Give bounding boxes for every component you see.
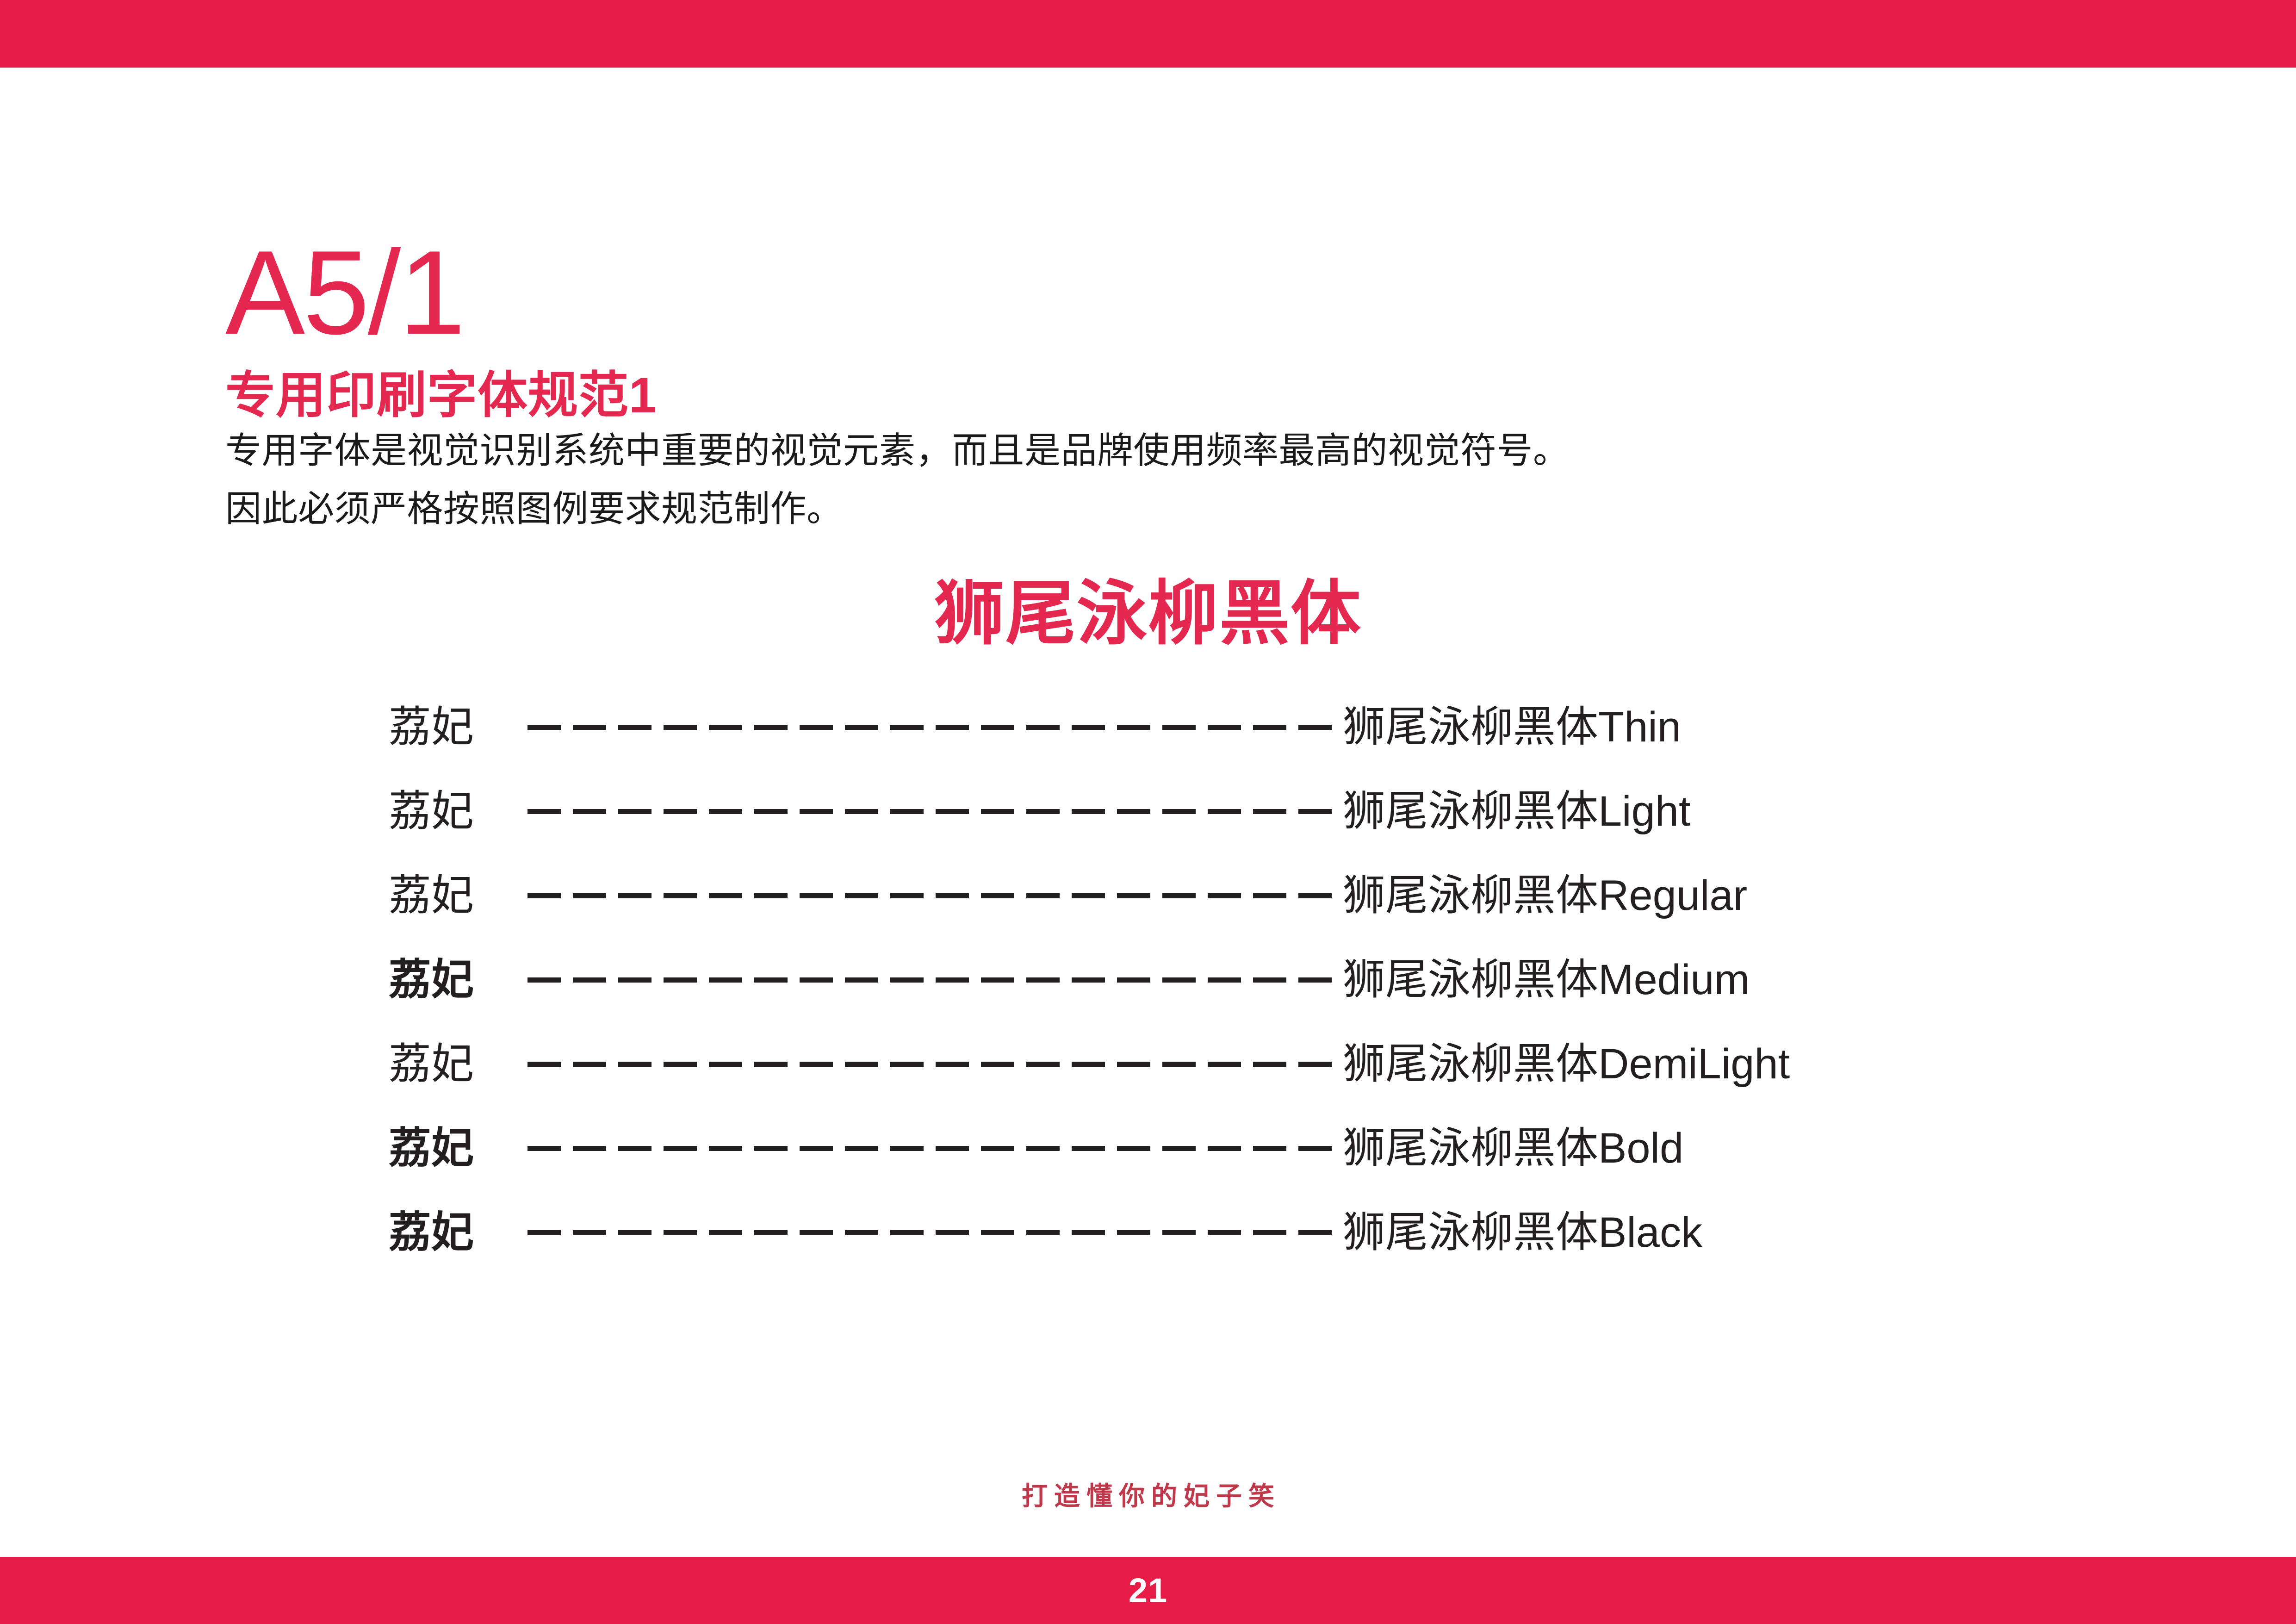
page-title: 专用印刷字体规范1 xyxy=(225,370,657,420)
dashed-connector xyxy=(527,809,1333,814)
weight-label-regular: 狮尾泳柳黑体Regular xyxy=(1343,874,2078,917)
weight-sample-medium: 荔妃 xyxy=(389,958,527,1001)
top-brand-bar xyxy=(0,0,2296,68)
section-code: A5/1 xyxy=(225,233,464,352)
weight-label-black: 狮尾泳柳黑体Black xyxy=(1343,1211,2078,1254)
dashed-connector xyxy=(527,1062,1333,1067)
weight-row: 荔妃 狮尾泳柳黑体Regular xyxy=(389,853,2078,938)
weight-sample-black: 荔妃 xyxy=(389,1211,527,1254)
weight-row: 荔妃 狮尾泳柳黑体Medium xyxy=(389,938,2078,1022)
dashed-connector xyxy=(527,893,1333,898)
weight-row: 荔妃 狮尾泳柳黑体Bold xyxy=(389,1106,2078,1190)
weight-sample-light: 荔妃 xyxy=(389,790,527,833)
weight-specimen-list: 荔妃 狮尾泳柳黑体Thin 荔妃 狮尾泳柳黑体Light 荔妃 狮尾泳柳黑体Re… xyxy=(389,685,2078,1275)
weight-sample-thin: 荔妃 xyxy=(389,706,527,748)
dashed-connector xyxy=(527,977,1333,983)
intro-paragraph: 专用字体是视觉识别系统中重要的视觉元素，而且是品牌使用频率最高的视觉符号。 因此… xyxy=(225,421,1891,538)
weight-row: 荔妃 狮尾泳柳黑体Thin xyxy=(389,685,2078,769)
weight-label-demilight: 狮尾泳柳黑体DemiLight xyxy=(1343,1043,2078,1085)
page-number: 21 xyxy=(0,1557,2296,1624)
intro-line-1: 专用字体是视觉识别系统中重要的视觉元素，而且是品牌使用频率最高的视觉符号。 xyxy=(225,421,1891,479)
weight-row: 荔妃 狮尾泳柳黑体DemiLight xyxy=(389,1022,2078,1106)
weight-sample-bold: 荔妃 xyxy=(389,1127,527,1170)
weight-row: 荔妃 狮尾泳柳黑体Light xyxy=(389,769,2078,853)
brand-slogan: 打造懂你的妃子笑 xyxy=(0,1483,2296,1509)
dashed-connector xyxy=(527,1230,1333,1235)
weight-label-thin: 狮尾泳柳黑体Thin xyxy=(1343,706,2078,748)
weight-sample-regular: 荔妃 xyxy=(389,874,527,917)
dashed-connector xyxy=(527,725,1333,730)
weight-row: 荔妃 狮尾泳柳黑体Black xyxy=(389,1190,2078,1275)
weight-label-medium: 狮尾泳柳黑体Medium xyxy=(1343,958,2078,1001)
weight-label-light: 狮尾泳柳黑体Light xyxy=(1343,790,2078,833)
weight-sample-demilight: 荔妃 xyxy=(389,1043,527,1085)
font-family-name: 狮尾泳柳黑体 xyxy=(0,579,2296,649)
intro-line-2: 因此必须严格按照图例要求规范制作。 xyxy=(225,479,1891,538)
weight-label-bold: 狮尾泳柳黑体Bold xyxy=(1343,1127,2078,1170)
dashed-connector xyxy=(527,1146,1333,1151)
slide-page: A5/1 专用印刷字体规范1 专用字体是视觉识别系统中重要的视觉元素，而且是品牌… xyxy=(0,0,2296,1624)
